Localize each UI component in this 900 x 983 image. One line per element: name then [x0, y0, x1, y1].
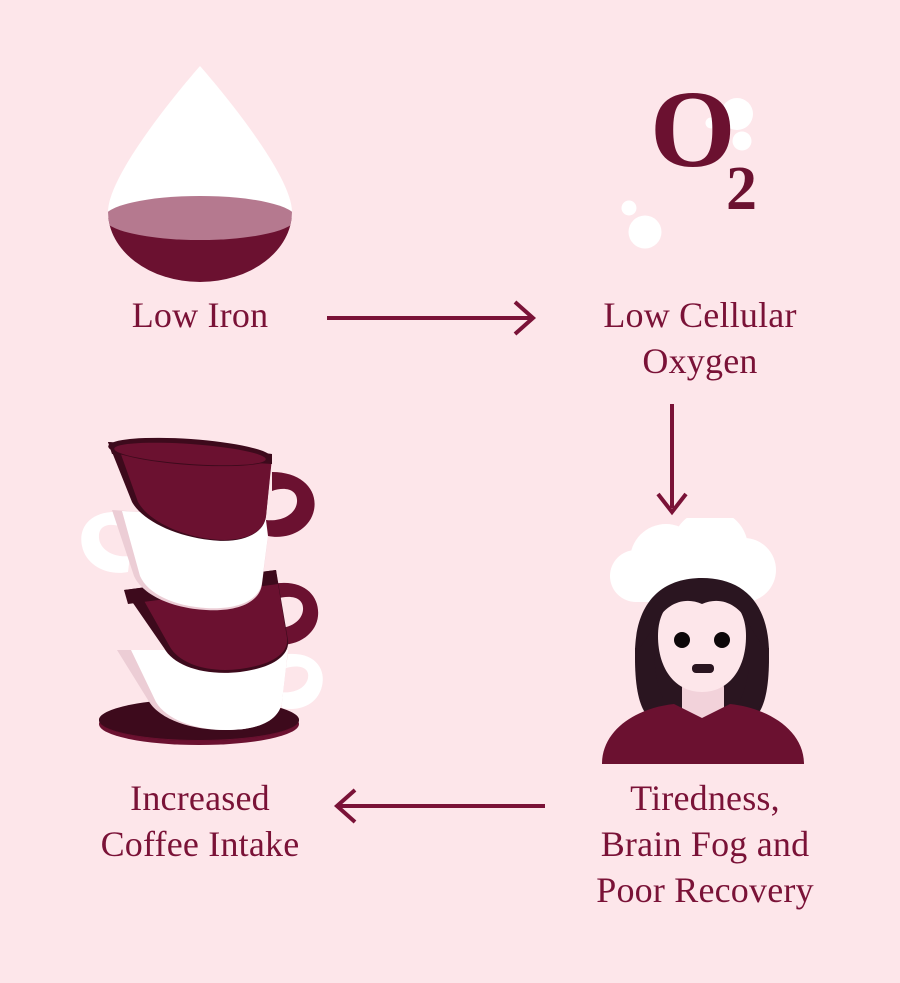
node-label-low-iron: Low Iron — [40, 292, 360, 338]
eye-left — [674, 632, 690, 648]
arrow-oxygen-to-person — [650, 402, 694, 523]
mouth — [692, 664, 714, 673]
stacked-coffee-cups-icon — [76, 424, 346, 759]
node-label-low-cellular-oxygen: Low Cellular Oxygen — [540, 292, 860, 384]
infographic-canvas: O 2 — [0, 0, 900, 983]
oxygen-molecule-icon: O 2 — [596, 86, 816, 271]
node-label-increased-coffee-intake: Increased Coffee Intake — [35, 775, 365, 867]
blood-drop-icon — [96, 62, 304, 287]
node-label-symptoms: Tiredness, Brain Fog and Poor Recovery — [530, 775, 880, 913]
face — [658, 592, 746, 692]
tired-person-icon — [588, 518, 818, 769]
oxygen-symbol-subscript-2: 2 — [726, 158, 757, 220]
eye-right — [714, 632, 730, 648]
oxygen-symbol-o: O — [650, 74, 736, 184]
